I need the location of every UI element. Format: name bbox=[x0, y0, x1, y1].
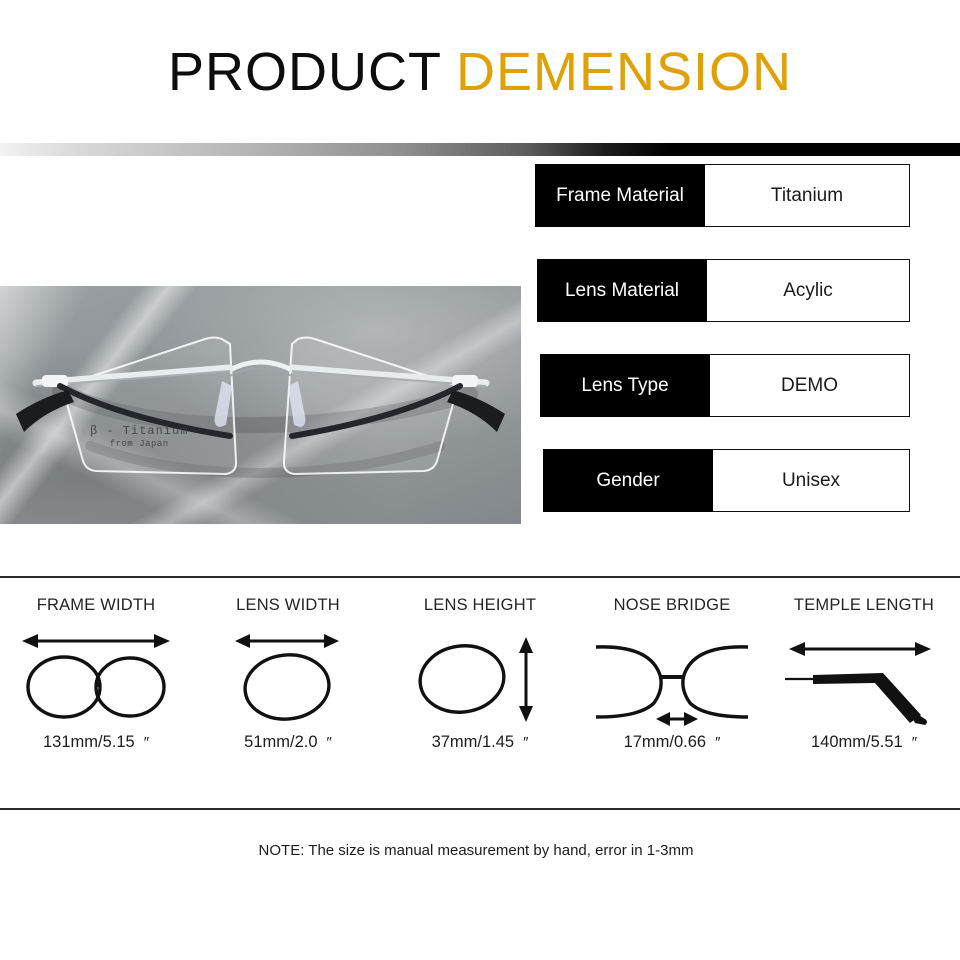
lens-height-icon bbox=[410, 621, 550, 733]
page-header: PRODUCTDEMENSION bbox=[0, 0, 960, 143]
dimension-number-nose-bridge: 17mm/0.66 bbox=[624, 733, 707, 751]
lens-etching: β - Titanium from Japan bbox=[90, 424, 188, 450]
dimension-value-nose-bridge: 17mm/0.66″ bbox=[624, 733, 721, 752]
temple-length-icon bbox=[779, 621, 949, 733]
dimension-frame-width: FRAME WIDTH 131mm/5.15″ bbox=[0, 596, 192, 808]
lens-etching-line2: from Japan bbox=[90, 439, 188, 450]
spec-value-frame-material: Titanium bbox=[705, 164, 910, 227]
dimension-number-temple-length: 140mm/5.51 bbox=[811, 733, 903, 751]
spec-key-gender: Gender bbox=[543, 449, 713, 512]
spec-value-gender: Unisex bbox=[713, 449, 910, 512]
spec-value-lens-material: Acylic bbox=[707, 259, 910, 322]
spec-row-lens-type: Lens Type DEMO bbox=[540, 354, 910, 417]
lens-width-icon bbox=[223, 621, 353, 733]
page-title-dimension: DEMENSION bbox=[456, 42, 792, 102]
note-section: NOTE: The size is manual measurement by … bbox=[0, 810, 960, 930]
eyeglasses-illustration bbox=[0, 286, 521, 524]
spec-key-lens-type: Lens Type bbox=[540, 354, 710, 417]
dimension-lens-width: LENS WIDTH 51mm/2.0″ bbox=[192, 596, 384, 808]
dimension-value-lens-height: 37mm/1.45″ bbox=[432, 733, 529, 752]
dimension-value-temple-length: 140mm/5.51″ bbox=[811, 733, 917, 752]
dimension-number-lens-height: 37mm/1.45 bbox=[432, 733, 515, 751]
dimension-label-frame-width: FRAME WIDTH bbox=[37, 596, 156, 615]
dimension-unit-lens-width: ″ bbox=[327, 734, 332, 751]
dimension-value-frame-width: 131mm/5.15″ bbox=[43, 733, 149, 752]
dimensions-section: FRAME WIDTH 131mm/5.15″ LENS WIDTH bbox=[0, 578, 960, 808]
dimension-value-lens-width: 51mm/2.0″ bbox=[244, 733, 332, 752]
dimension-label-nose-bridge: NOSE BRIDGE bbox=[614, 596, 731, 615]
spec-row-lens-material: Lens Material Acylic bbox=[537, 259, 910, 322]
spec-table: Frame Material Titanium Lens Material Ac… bbox=[535, 164, 910, 512]
note-text: NOTE: The size is manual measurement by … bbox=[259, 842, 694, 859]
spec-key-lens-material: Lens Material bbox=[537, 259, 707, 322]
page-title-product: PRODUCT bbox=[168, 42, 442, 102]
header-gradient-divider bbox=[0, 143, 960, 156]
dimension-nose-bridge: NOSE BRIDGE 17mm/0.66″ bbox=[576, 596, 768, 808]
frame-width-icon bbox=[16, 621, 176, 733]
dimension-label-temple-length: TEMPLE LENGTH bbox=[794, 596, 934, 615]
spec-row-gender: Gender Unisex bbox=[543, 449, 910, 512]
dimension-lens-height: LENS HEIGHT 37mm/1.45″ bbox=[384, 596, 576, 808]
page-title: PRODUCTDEMENSION bbox=[168, 41, 792, 103]
dimension-number-frame-width: 131mm/5.15 bbox=[43, 733, 135, 751]
lens-etching-line1: β - Titanium bbox=[90, 424, 188, 438]
spec-value-lens-type: DEMO bbox=[710, 354, 910, 417]
dimension-number-lens-width: 51mm/2.0 bbox=[244, 733, 317, 751]
dimension-unit-temple-length: ″ bbox=[912, 734, 917, 751]
dimension-unit-nose-bridge: ″ bbox=[715, 734, 720, 751]
dimension-label-lens-width: LENS WIDTH bbox=[236, 596, 340, 615]
spec-row-frame-material: Frame Material Titanium bbox=[535, 164, 910, 227]
product-photo: β - Titanium from Japan bbox=[0, 286, 521, 524]
dimension-temple-length: TEMPLE LENGTH 140mm/5.51″ bbox=[768, 596, 960, 808]
nose-bridge-icon bbox=[592, 621, 752, 733]
spec-key-frame-material: Frame Material bbox=[535, 164, 705, 227]
dimension-unit-lens-height: ″ bbox=[523, 734, 528, 751]
dimension-unit-frame-width: ″ bbox=[144, 734, 149, 751]
product-overview-section: β - Titanium from Japan Frame Material T… bbox=[0, 156, 960, 576]
dimension-label-lens-height: LENS HEIGHT bbox=[424, 596, 536, 615]
